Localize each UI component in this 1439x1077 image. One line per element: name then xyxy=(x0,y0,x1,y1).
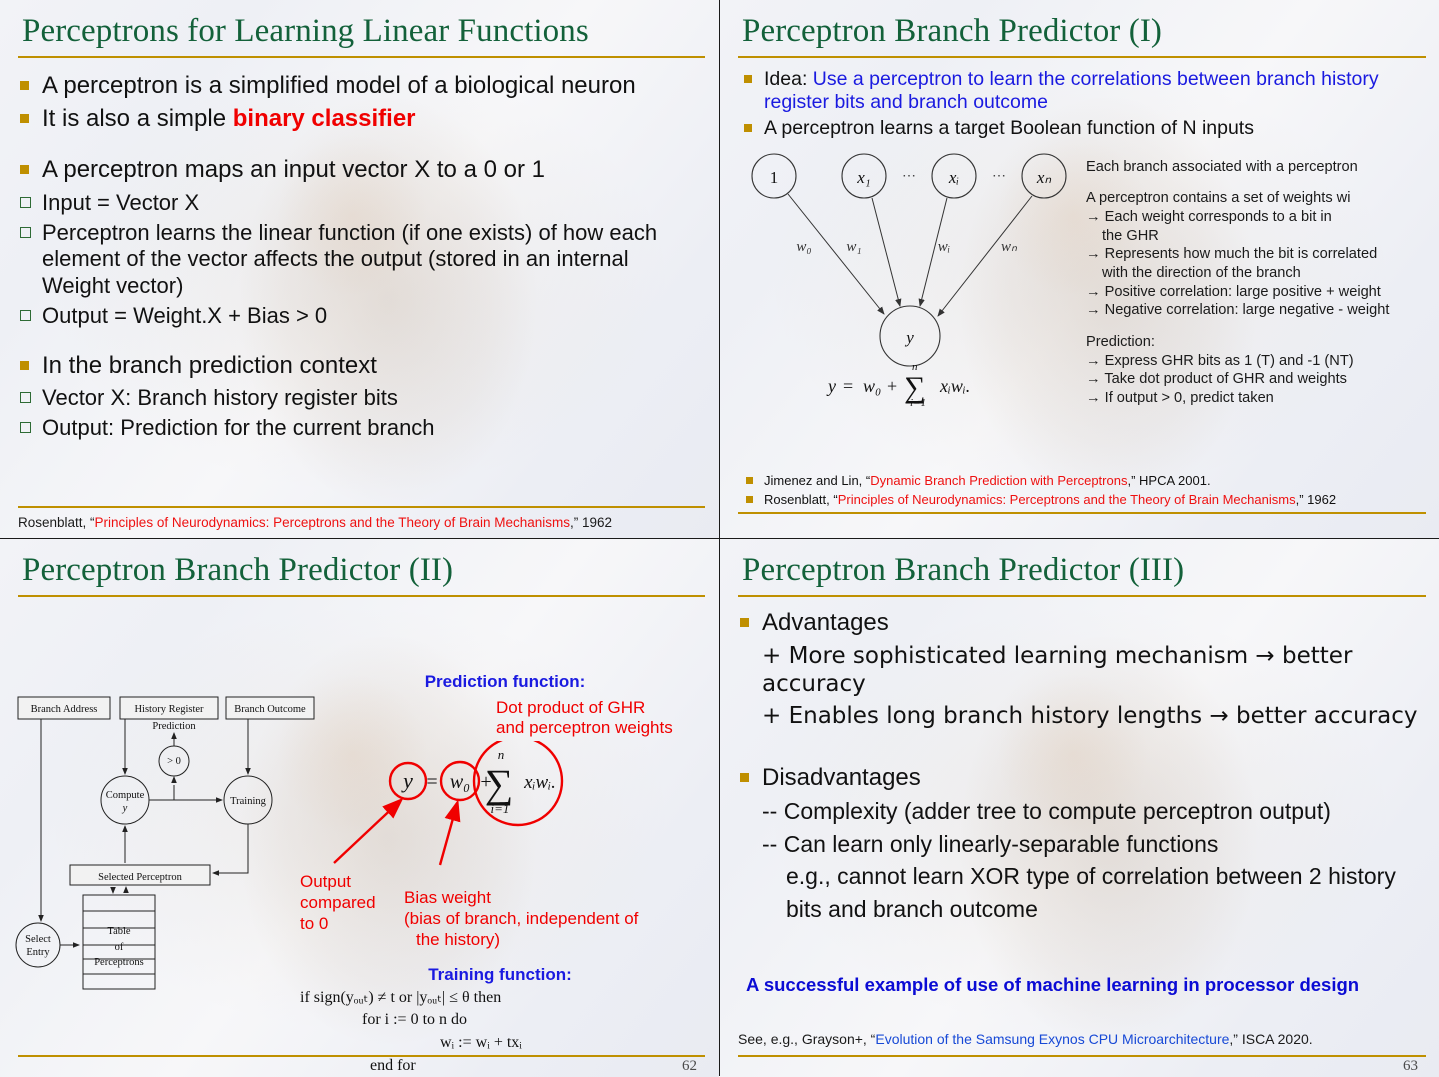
disadvantages-list: Disadvantages xyxy=(728,764,1422,792)
svg-text:xᵢ: xᵢ xyxy=(948,168,959,187)
bullet-item: It is also a simple binary classifier xyxy=(8,105,699,133)
reference-item: Jimenez and Lin, “Dynamic Branch Predict… xyxy=(736,471,1432,491)
svg-text:Branch Outcome: Branch Outcome xyxy=(234,704,306,715)
reference-item: Rosenblatt, “Principles of Neurodynamics… xyxy=(736,490,1432,510)
citation-post: ,” ISCA 2020. xyxy=(1229,1031,1312,1047)
idea-label: Idea: xyxy=(764,68,807,90)
svg-text:i=1: i=1 xyxy=(491,801,510,816)
bullet-item: A perceptron learns a target Boolean fun… xyxy=(728,117,1432,140)
advantage-item: + Enables long branch history lengths → … xyxy=(728,703,1422,731)
slide-perceptron-branch-predictor-2: Perceptron Branch Predictor (II) xyxy=(0,539,719,1077)
svg-text:Prediction: Prediction xyxy=(152,721,196,732)
slide-title: Perceptrons for Learning Linear Function… xyxy=(0,0,719,50)
bullet-list-2: A perceptron maps an input vector X to a… xyxy=(8,156,699,329)
block-diagram-svg: Branch Address History Register Branch O… xyxy=(8,693,338,993)
svg-text:=: = xyxy=(843,376,853,396)
footer-divider xyxy=(18,506,705,508)
svg-text:wₙ: wₙ xyxy=(1001,239,1018,255)
citation-pre: Rosenblatt, “ xyxy=(18,515,95,530)
code-line: end for xyxy=(300,1055,700,1077)
slide-body: Advantages + More sophisticated learning… xyxy=(720,597,1439,997)
svg-text:⋯: ⋯ xyxy=(902,169,916,184)
svg-text:w₁: w₁ xyxy=(846,239,861,255)
note-label: Prediction: xyxy=(1086,333,1430,352)
dot-product-annotation: Dot product of GHR and perceptron weight… xyxy=(496,698,710,739)
prediction-formula-svg: y = w₀ + ∑ n i=1 xᵢwᵢ. xyxy=(300,741,700,873)
footer-divider xyxy=(738,1055,1426,1057)
slide-title: Perceptron Branch Predictor (II) xyxy=(0,539,719,589)
bullet-text: It is also a simple xyxy=(42,105,233,132)
bullet-item: A perceptron maps an input vector X to a… xyxy=(8,156,699,184)
code-line: wᵢ := wᵢ + txᵢ xyxy=(300,1032,700,1055)
slide-title: Perceptron Branch Predictor (I) xyxy=(720,0,1439,50)
svg-text:y: y xyxy=(401,768,413,793)
ref-pre: Jimenez and Lin, “ xyxy=(764,473,870,488)
note-line: → If output > 0, predict taken xyxy=(1086,389,1430,408)
sub-bullet-item: Output: Prediction for the current branc… xyxy=(8,415,699,441)
spacer xyxy=(728,946,1422,964)
citation-pre: See, e.g., Grayson+, “ xyxy=(738,1031,875,1047)
svg-text:Selected Perceptron: Selected Perceptron xyxy=(98,872,182,883)
annotation-line: compared xyxy=(300,893,404,914)
slide-perceptron-branch-predictor-3: Perceptron Branch Predictor (III) Advant… xyxy=(720,539,1439,1077)
bullet-item: In the branch prediction context xyxy=(8,352,699,380)
ref-link[interactable]: Principles of Neurodynamics: Perceptrons… xyxy=(838,492,1296,507)
output-annotation: Output compared to 0 xyxy=(300,872,404,950)
citation: See, e.g., Grayson+, “Evolution of the S… xyxy=(738,1031,1428,1047)
svg-text:y: y xyxy=(826,376,836,396)
page-number: 63 xyxy=(1403,1058,1418,1075)
page-number: 62 xyxy=(682,1058,697,1075)
spacer xyxy=(728,964,1422,974)
perceptron-diagram-svg: 1 x₁ xᵢ xₙ y ⋯ ⋯ xyxy=(732,144,1082,406)
annotation-line: Dot product of GHR xyxy=(496,698,710,719)
citation-link[interactable]: Evolution of the Samsung Exynos CPU Micr… xyxy=(875,1031,1229,1047)
svg-text:Training: Training xyxy=(230,796,267,807)
note-line: → Take dot product of GHR and weights xyxy=(1086,370,1430,389)
slide-body: A perceptron is a simplified model of a … xyxy=(0,58,719,442)
slide-perceptron-branch-predictor-1: Perceptron Branch Predictor (I) Idea: Us… xyxy=(720,0,1439,538)
kicker-text: A successful example of use of machine l… xyxy=(728,974,1422,996)
svg-text:y: y xyxy=(904,328,914,347)
slide-grid: Perceptrons for Learning Linear Function… xyxy=(0,0,1439,1076)
footer-divider xyxy=(18,1055,705,1057)
svg-text:w₀: w₀ xyxy=(450,771,470,793)
title-divider xyxy=(18,595,705,597)
spacer xyxy=(1086,320,1430,333)
citation-link[interactable]: Principles of Neurodynamics: Perceptrons… xyxy=(95,515,570,530)
svg-text:Perceptrons: Perceptrons xyxy=(94,957,144,968)
sub-bullet-item: Input = Vector X xyxy=(8,190,699,216)
svg-text:x₁: x₁ xyxy=(856,168,870,187)
note-line: → Positive correlation: large positive +… xyxy=(1086,283,1430,302)
note-line: A perceptron contains a set of weights w… xyxy=(1086,189,1430,208)
sub-bullet-item: Perceptron learns the linear function (i… xyxy=(8,220,699,299)
svg-text:∑: ∑ xyxy=(485,761,514,806)
sub-bullet-item: Output = Weight.X + Bias > 0 xyxy=(8,303,699,329)
spacer xyxy=(8,138,699,156)
svg-text:w₀: w₀ xyxy=(863,376,881,396)
note-line: with the direction of the branch xyxy=(1086,264,1430,283)
notes-column: Each branch associated with a perceptron… xyxy=(1086,144,1432,408)
ref-post: ,” 1962 xyxy=(1296,492,1336,507)
slide-perceptrons-linear-functions: Perceptrons for Learning Linear Function… xyxy=(0,0,719,538)
note-line: → Represents how much the bit is correla… xyxy=(1086,245,1430,264)
disadvantage-note: e.g., cannot learn XOR type of correlati… xyxy=(728,863,1422,891)
svg-text:Table: Table xyxy=(107,926,131,937)
spacer xyxy=(728,928,1422,946)
note-line: → Negative correlation: large negative -… xyxy=(1086,301,1430,320)
prediction-function-title: Prediction function: xyxy=(300,672,710,692)
annotation-line: Output xyxy=(300,872,404,893)
annotation-line: the history) xyxy=(404,930,710,951)
prediction-function-block: Prediction function: Dot product of GHR … xyxy=(300,672,710,951)
svg-text:Branch Address: Branch Address xyxy=(31,704,98,715)
reference-list: Jimenez and Lin, “Dynamic Branch Predict… xyxy=(736,471,1432,511)
svg-text:w₀: w₀ xyxy=(796,239,811,255)
spacer xyxy=(1086,176,1430,189)
training-function-block: Training function: if sign(yₒᵤₜ) ≠ t or … xyxy=(300,965,700,1077)
disadvantage-note: bits and branch outcome xyxy=(728,896,1422,924)
note-line: Each branch associated with a perceptron xyxy=(1086,158,1430,177)
spacer xyxy=(8,334,699,352)
svg-text:xₙ: xₙ xyxy=(1036,168,1052,187)
bias-annotation: Bias weight (bias of branch, independent… xyxy=(404,872,710,950)
svg-text:History Register: History Register xyxy=(134,704,204,715)
bullet-list-3: In the branch prediction context Vector … xyxy=(8,352,699,442)
svg-text:n: n xyxy=(498,747,505,762)
note-line: the GHR xyxy=(1086,227,1430,246)
svg-text:wᵢ: wᵢ xyxy=(938,239,950,255)
svg-text:+: + xyxy=(887,376,897,396)
advantages-list: Advantages xyxy=(728,609,1422,637)
code-line: if sign(yₒᵤₜ) ≠ t or |yₒᵤₜ| ≤ θ then xyxy=(300,987,700,1010)
annotation-line: Bias weight xyxy=(404,888,710,909)
emphasis-text: binary classifier xyxy=(233,105,416,132)
annotation-line: and perceptron weights xyxy=(496,718,710,739)
idea-text: Use a perceptron to learn the correlatio… xyxy=(764,68,1379,113)
ref-link[interactable]: Dynamic Branch Prediction with Perceptro… xyxy=(870,473,1127,488)
bullet-item: A perceptron is a simplified model of a … xyxy=(8,72,699,100)
ref-pre: Rosenblatt, “ xyxy=(764,492,838,507)
svg-text:Compute: Compute xyxy=(106,790,145,801)
diagram-column: 1 x₁ xᵢ xₙ y ⋯ ⋯ xyxy=(728,144,1086,408)
annotation-line: (bias of branch, independent of xyxy=(404,909,710,930)
footer-divider xyxy=(738,512,1426,514)
svg-text:xᵢwᵢ.: xᵢwᵢ. xyxy=(523,772,556,793)
advantage-item: + More sophisticated learning mechanism … xyxy=(728,643,1422,698)
spacer xyxy=(728,754,1422,764)
svg-text:Select: Select xyxy=(25,934,51,945)
sub-bullet-item: Vector X: Branch history register bits xyxy=(8,385,699,411)
svg-text:n: n xyxy=(912,361,918,373)
svg-text:y: y xyxy=(122,803,128,814)
disadvantage-item: -- Complexity (adder tree to compute per… xyxy=(728,798,1422,826)
svg-text:=: = xyxy=(426,771,437,793)
disadvantages-heading: Disadvantages xyxy=(728,764,1422,792)
disadvantage-item: -- Can learn only linearly-separable fun… xyxy=(728,831,1422,859)
svg-text:1: 1 xyxy=(770,168,779,187)
svg-text:i=1: i=1 xyxy=(910,397,926,406)
code-line: for i := 0 to n do xyxy=(300,1009,700,1032)
annotation-line: to 0 xyxy=(300,914,404,935)
slide-body: Idea: Use a perceptron to learn the corr… xyxy=(720,58,1439,408)
citation-post: ,” 1962 xyxy=(570,515,612,530)
note-line: → Each weight corresponds to a bit in xyxy=(1086,208,1430,227)
bullet-list: Idea: Use a perceptron to learn the corr… xyxy=(728,68,1432,140)
slide-title: Perceptron Branch Predictor (III) xyxy=(720,539,1439,589)
bullet-item-idea: Idea: Use a perceptron to learn the corr… xyxy=(728,68,1432,114)
training-function-title: Training function: xyxy=(300,965,700,985)
content-columns: 1 x₁ xᵢ xₙ y ⋯ ⋯ xyxy=(728,144,1432,408)
ref-post: ,” HPCA 2001. xyxy=(1127,473,1210,488)
bullet-list: A perceptron is a simplified model of a … xyxy=(8,72,699,134)
svg-text:⋯: ⋯ xyxy=(992,169,1006,184)
branch-predictor-block-diagram: Branch Address History Register Branch O… xyxy=(8,693,338,993)
svg-text:of: of xyxy=(115,942,124,953)
perceptron-diagram: 1 x₁ xᵢ xₙ y ⋯ ⋯ xyxy=(732,144,1082,406)
spacer xyxy=(728,736,1422,754)
svg-text:> 0: > 0 xyxy=(167,756,181,767)
note-line: → Express GHR bits as 1 (T) and -1 (NT) xyxy=(1086,352,1430,371)
svg-text:xᵢwᵢ.: xᵢwᵢ. xyxy=(939,376,970,396)
svg-text:Entry: Entry xyxy=(26,947,50,958)
advantages-heading: Advantages xyxy=(728,609,1422,637)
citation: Rosenblatt, “Principles of Neurodynamics… xyxy=(18,515,707,532)
